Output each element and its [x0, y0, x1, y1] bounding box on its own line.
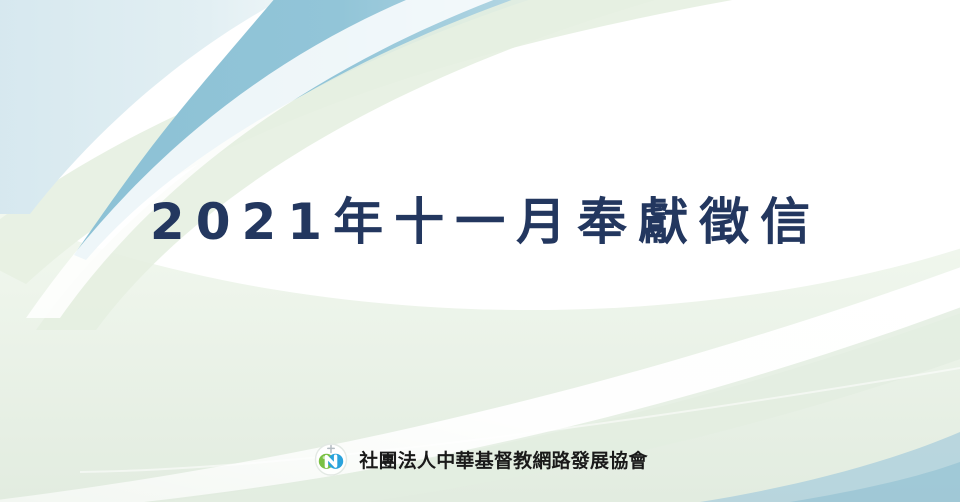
footer: 社團法人中華基督教網路發展協會	[0, 440, 960, 478]
page-title: 2021年十一月奉獻徵信	[139, 196, 821, 249]
organization-name: 社團法人中華基督教網路發展協會	[359, 446, 647, 473]
slide-background	[0, 0, 960, 502]
presentation-slide: 2021年十一月奉獻徵信	[0, 0, 960, 502]
title-block: 2021年十一月奉獻徵信	[0, 196, 960, 249]
association-logo-icon	[312, 440, 350, 478]
